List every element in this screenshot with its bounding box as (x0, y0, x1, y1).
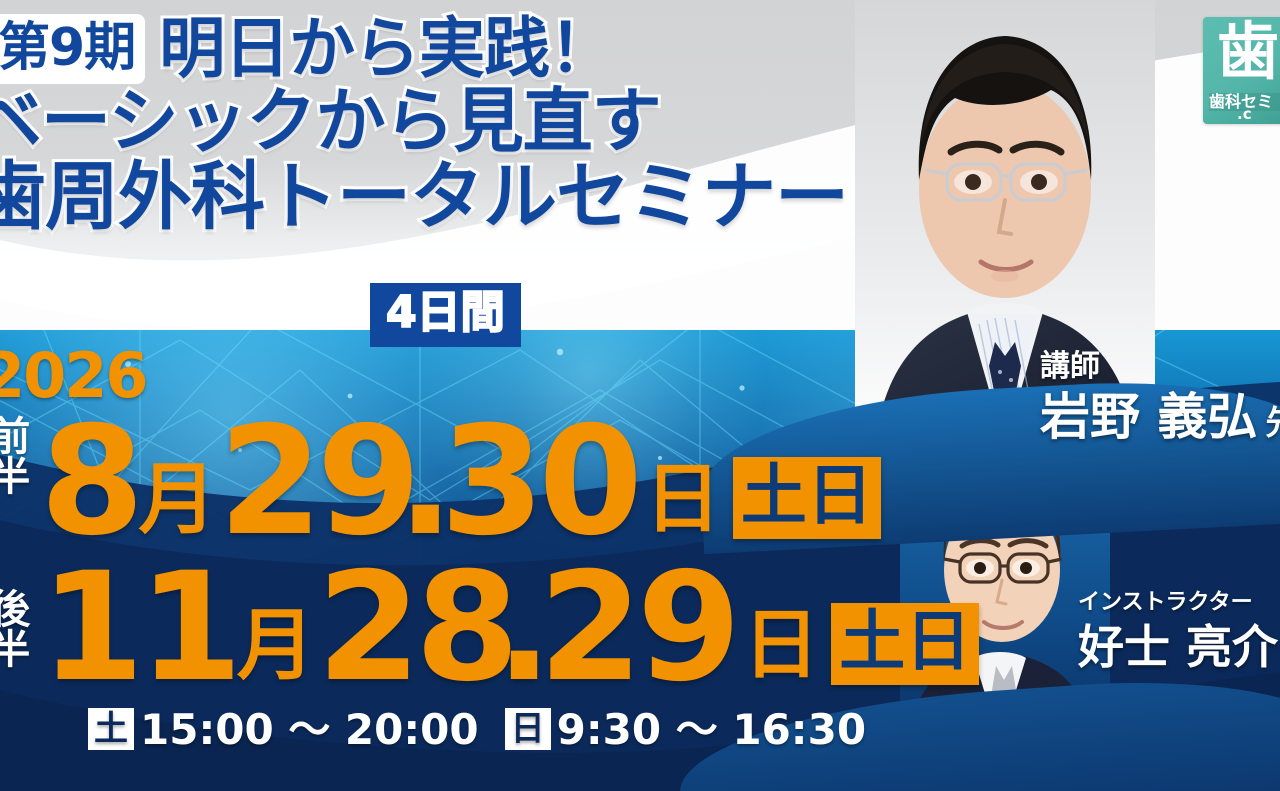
session-1-day-kanji: 日 (645, 461, 721, 537)
first-half-label: 前半 (0, 415, 25, 495)
instructor-1-caption: 講師 岩野 義弘先生 (1040, 352, 1280, 442)
logo-tooth-kanji-icon: 歯 (1217, 21, 1279, 83)
instructor-2-nameline: 好士 亮介先生 (1078, 624, 1280, 670)
instructor-2-name: 好士 亮介 (1078, 620, 1278, 674)
second-half-label: 後半 (0, 588, 25, 668)
session-1-month: 8 (40, 418, 138, 547)
headline-line-2: ベーシックから見直す (0, 84, 661, 158)
session-1-dow-badge: 土日 (733, 457, 881, 539)
term-badge: 第9期 (0, 14, 145, 84)
headline-row-1: 第9期 明日から実践！ (0, 14, 868, 84)
logo-domain-suffix: .c (1237, 107, 1252, 122)
headline-line-1: 明日から実践！ (159, 15, 614, 82)
saturday-time-range: 15:00 〜 20:00 (140, 705, 479, 754)
sunday-time-range: 9:30 〜 16:30 (557, 705, 866, 754)
session-1-date: 8 月 29 . 30 日 土日 (40, 418, 881, 547)
seminar-banner: 第9期 明日から実践！ ベーシックから見直す 歯周外科トータルセミナー 4日間 … (0, 0, 1280, 791)
instructor-1-nameline: 岩野 義弘先生 (1040, 392, 1280, 442)
session-2-date: 11 月 28 . 29 日 土日 (40, 564, 979, 693)
session-2-month-kanji: 月 (237, 607, 315, 685)
headline-block: 第9期 明日から実践！ ベーシックから見直す 歯周外科トータルセミナー (0, 14, 868, 237)
headline-row-3: 歯周外科トータルセミナー (0, 158, 868, 236)
session-2-day-b: 29 (539, 564, 736, 693)
session-2-day-a: 28 (317, 564, 514, 693)
sunday-mark: 日 (505, 708, 551, 750)
instructor-1-name: 岩野 義弘 (1040, 388, 1257, 446)
saturday-mark: 土 (88, 708, 134, 750)
instructor-1-role: 講師 (1040, 352, 1280, 382)
site-logo[interactable]: 歯 歯科セミ .c (1203, 17, 1280, 124)
headline-line-3: 歯周外科トータルセミナー (0, 158, 848, 236)
session-1-month-kanji: 月 (138, 461, 216, 539)
instructor-1-suffix: 先生 (1265, 403, 1280, 443)
duration-badge-label: 4日間 (386, 287, 505, 338)
session-2-month: 11 (40, 564, 237, 693)
session-times: 土15:00 〜 20:00日9:30 〜 16:30 (88, 708, 866, 751)
instructor-2-role: インストラクター (1078, 592, 1280, 614)
session-1-day-a: 29 (218, 418, 415, 547)
headline-row-2: ベーシックから見直す (0, 84, 868, 158)
duration-badge: 4日間 (370, 283, 521, 347)
session-2-dow-badge: 土日 (831, 603, 979, 685)
session-2-day-kanji: 日 (743, 607, 819, 683)
session-1-day-b: 30 (440, 418, 637, 547)
instructor-2-caption: インストラクター 好士 亮介先生 (1078, 592, 1280, 670)
